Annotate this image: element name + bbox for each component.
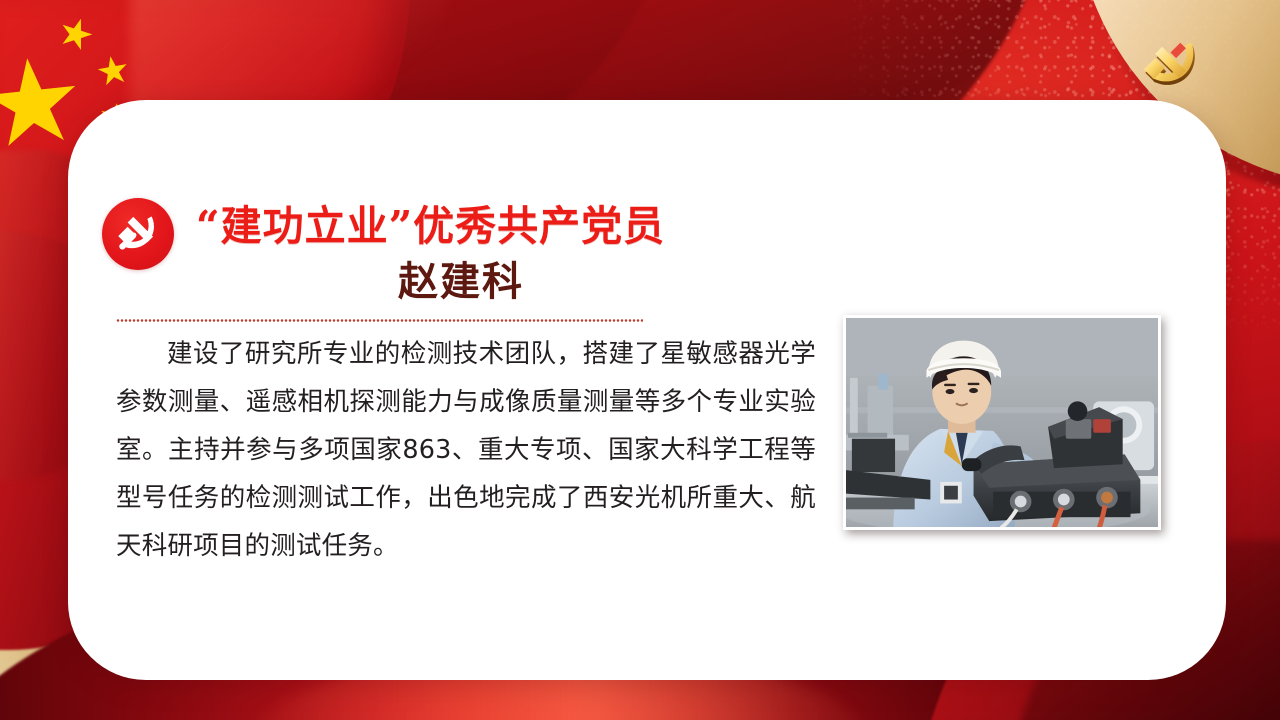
- person-name: 赵建科: [398, 262, 524, 302]
- gold-hammer-sickle-icon: [1128, 28, 1206, 98]
- dotted-divider: [116, 319, 643, 322]
- person-photo: [843, 315, 1161, 530]
- biography-text: 建设了研究所专业的检测技术团队，搭建了星敏感器光学参数测量、遥感相机探测能力与成…: [116, 330, 816, 570]
- cpc-party-emblem-icon: [102, 198, 174, 270]
- slide-root: “建功立业”优秀共产党员 赵建科 建设了研究所专业的检测技术团队，搭建了星敏感器…: [0, 0, 1280, 720]
- page-title: “建功立业”优秀共产党员: [196, 206, 665, 247]
